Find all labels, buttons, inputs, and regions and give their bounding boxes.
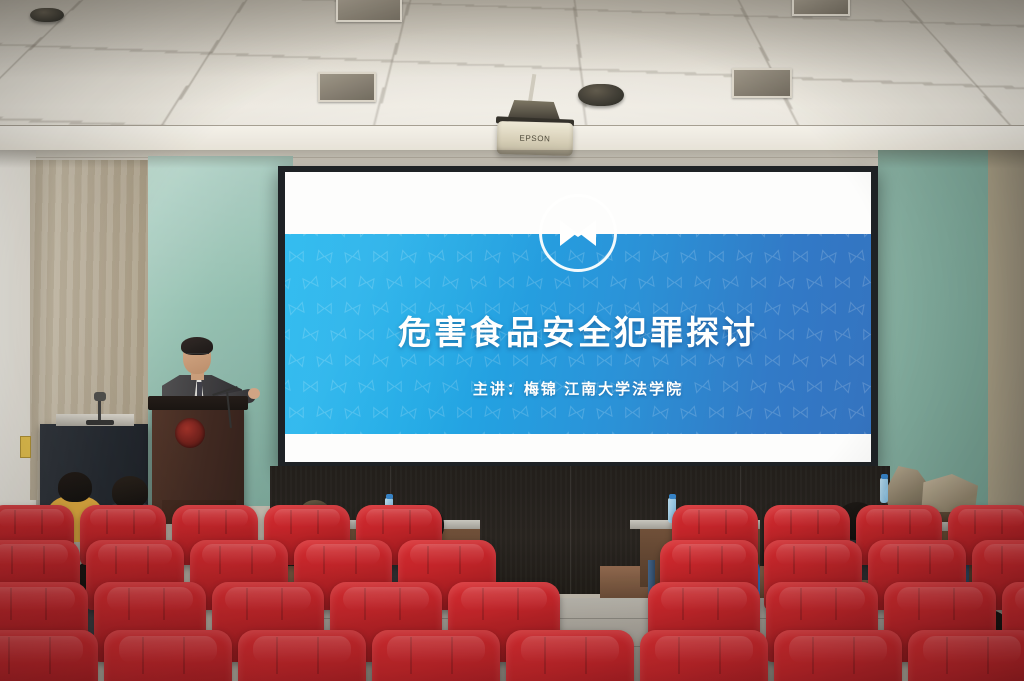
seat-crease — [225, 510, 227, 534]
watermark-tile — [285, 234, 291, 238]
watermark-tile — [400, 249, 417, 264]
watermark-tile — [862, 275, 871, 290]
seat-crease — [918, 588, 920, 620]
watermark-tile — [596, 405, 613, 420]
watermark-tile — [288, 353, 305, 368]
watermark-tile — [666, 234, 683, 238]
seat-crease — [544, 637, 546, 674]
seat-crease — [427, 546, 429, 574]
watermark-tile — [638, 275, 655, 290]
seat-crease — [128, 588, 130, 620]
seat-crease — [246, 588, 248, 620]
seat-crease — [853, 637, 855, 674]
watermark-tile — [400, 405, 417, 420]
watermark-tile — [652, 353, 669, 368]
wall-teal-right — [878, 150, 996, 510]
water-bottle — [880, 478, 888, 503]
seat-crease — [719, 637, 721, 674]
seat-crease — [800, 588, 802, 620]
seat-crease — [251, 546, 253, 574]
seat-crease — [909, 510, 911, 534]
watermark-tile — [652, 405, 669, 420]
watermark-tile — [316, 249, 333, 264]
watermark-tile — [568, 405, 585, 420]
watermark-tile — [597, 354, 612, 367]
watermark-tile — [316, 353, 333, 368]
seat-crease — [825, 546, 827, 574]
watermark-tile — [848, 405, 865, 420]
seat-crease — [147, 546, 149, 574]
watermark-tile — [484, 249, 501, 264]
backdrop-seam-2 — [570, 466, 571, 594]
seat-crease — [897, 546, 899, 574]
watermark-tile — [484, 405, 501, 420]
watermark-tile — [778, 275, 795, 290]
seat-crease — [183, 637, 185, 674]
seat-crease — [317, 637, 319, 674]
watermark-tile — [736, 353, 753, 368]
eyeglasses-icon — [186, 353, 209, 360]
watermark-tile — [499, 276, 514, 289]
watermark-tile — [484, 353, 501, 368]
watermark-tile — [764, 249, 781, 264]
seat-crease — [721, 546, 723, 574]
watermark-tile — [442, 234, 459, 238]
watermark-tile — [625, 250, 640, 263]
seat-crease — [11, 546, 13, 574]
watermark-tile — [639, 234, 654, 237]
watermark-tile — [386, 275, 403, 290]
watermark-tile — [372, 353, 389, 368]
seat-crease — [585, 637, 587, 674]
watermark-tile — [331, 276, 346, 289]
seat-crease — [290, 510, 292, 534]
watermark-tile — [415, 276, 430, 289]
watermark-tile — [583, 276, 598, 289]
watermark-tile — [834, 234, 851, 238]
watermark-tile — [848, 249, 865, 264]
theater-seat — [0, 630, 98, 681]
seat-crease — [835, 588, 837, 620]
seat-crease — [682, 588, 684, 620]
watermark-tile — [723, 234, 738, 237]
watermark-tile — [428, 405, 445, 420]
seat-crease — [812, 637, 814, 674]
watermark-tile — [358, 234, 375, 238]
theater-seat — [908, 630, 1024, 681]
seat-crease — [364, 588, 366, 620]
seat-crease — [817, 510, 819, 534]
watermark-tile — [303, 234, 318, 237]
slide-subtitle: 主讲：梅锦 江南大学法学院 — [285, 378, 871, 399]
watermark-tile — [708, 353, 725, 368]
watermark-tile — [373, 406, 388, 419]
seat-crease — [793, 546, 795, 574]
seat-crease — [8, 637, 10, 674]
bottle-cap — [386, 494, 393, 499]
watermark-tile — [750, 234, 767, 238]
ceiling-vent-2 — [732, 68, 792, 98]
seat-crease — [517, 588, 519, 620]
projection-screen-frame: 危害食品安全犯罪探讨 主讲：梅锦 江南大学法学院 — [278, 166, 878, 468]
seat-crease — [689, 546, 691, 574]
theater-seat — [238, 630, 366, 681]
speaker-hand — [248, 388, 260, 399]
watermark-tile — [765, 354, 780, 367]
watermark-tile — [428, 249, 445, 264]
microphone-base — [86, 420, 114, 425]
seat-crease — [142, 637, 144, 674]
theater-seat — [506, 630, 634, 681]
watermark-tile — [694, 275, 711, 290]
watermark-tile — [820, 405, 837, 420]
watermark-tile — [764, 405, 781, 420]
theater-seat — [372, 630, 500, 681]
seat-crease — [410, 637, 412, 674]
seat-crease — [323, 546, 325, 574]
watermark-tile — [835, 276, 850, 289]
slide-bottom-margin — [285, 434, 871, 462]
seat-crease — [1001, 510, 1003, 534]
ceiling-vent-4 — [792, 0, 850, 16]
seat-crease — [45, 588, 47, 620]
ceiling-vent-3 — [336, 0, 402, 22]
seat-crease — [725, 510, 727, 534]
seat-crease — [929, 546, 931, 574]
seat-crease — [451, 637, 453, 674]
seat-crease — [953, 588, 955, 620]
seat-crease — [717, 588, 719, 620]
watermark-tile — [457, 250, 472, 263]
watermark-tile — [624, 353, 641, 368]
lecture-hall-scene: EPSON 危害食品安全犯罪探讨 主讲：梅锦 江南大学法学院 — [0, 0, 1024, 681]
watermark-tile — [667, 276, 682, 289]
seat-crease — [106, 510, 108, 534]
watermark-tile — [344, 405, 361, 420]
watermark-tile — [541, 406, 556, 419]
seat-crease — [198, 510, 200, 534]
seat-crease — [133, 510, 135, 534]
watermark-tile — [820, 353, 837, 368]
watermark-tile — [512, 249, 529, 264]
watermark-tile — [568, 353, 585, 368]
seat-crease — [459, 546, 461, 574]
bottle-cap — [669, 494, 676, 499]
seat-crease — [678, 637, 680, 674]
seat-crease — [281, 588, 283, 620]
watermark-tile — [470, 275, 487, 290]
watermark-tile — [289, 406, 304, 419]
watermark-tile — [709, 406, 724, 419]
seat-crease — [1001, 546, 1003, 574]
podium-lectern-top — [148, 396, 248, 410]
watermark-tile — [289, 250, 304, 263]
theater-seat — [774, 630, 902, 681]
watermark-tile — [285, 275, 291, 290]
watermark-tile — [387, 234, 402, 237]
seat-crease — [482, 588, 484, 620]
watermark-tile — [709, 250, 724, 263]
watermark-tile — [778, 234, 795, 238]
watermark-tile — [358, 275, 375, 290]
watermark-tile — [681, 354, 696, 367]
watermark-tile — [849, 354, 864, 367]
slide-title: 危害食品安全犯罪探讨 — [285, 306, 871, 354]
watermark-tile — [540, 353, 557, 368]
theater-seat — [104, 630, 232, 681]
watermark-tile — [414, 234, 431, 238]
watermark-tile — [429, 354, 444, 367]
watermark-tile — [722, 275, 739, 290]
watermark-tile — [471, 234, 486, 237]
seat-crease — [317, 510, 319, 534]
theater-seat — [640, 630, 768, 681]
seat-crease — [49, 637, 51, 674]
seat-crease — [409, 510, 411, 534]
bowtie-m-logo — [539, 194, 617, 272]
watermark-tile — [610, 275, 627, 290]
seat-crease — [41, 510, 43, 534]
watermark-tile — [330, 234, 347, 238]
wall-switch-plate[interactable] — [20, 436, 31, 458]
seat-crease — [276, 637, 278, 674]
watermark-tile — [344, 249, 361, 264]
watermark-tile — [526, 275, 543, 290]
seat-crease — [382, 510, 384, 534]
watermark-tile — [302, 275, 319, 290]
watermark-tile — [513, 354, 528, 367]
seat-crease — [14, 510, 16, 534]
seat-crease — [163, 588, 165, 620]
seat-crease — [219, 546, 221, 574]
person-head — [58, 472, 92, 502]
watermark-tile — [512, 405, 529, 420]
projection-screen: 危害食品安全犯罪探讨 主讲：梅锦 江南大学法学院 — [285, 172, 871, 462]
watermark-tile — [316, 405, 333, 420]
microphone-icon — [94, 392, 106, 401]
watermark-tile — [806, 275, 823, 290]
watermark-tile — [625, 406, 640, 419]
watermark-tile — [554, 275, 571, 290]
watermark-tile — [457, 406, 472, 419]
seat-crease — [399, 588, 401, 620]
watermark-tile — [793, 406, 808, 419]
seat-crease — [987, 637, 989, 674]
seat-crease — [10, 588, 12, 620]
seat-crease — [790, 510, 792, 534]
watermark-tile — [793, 250, 808, 263]
watermark-tile — [400, 353, 417, 368]
watermark-tile — [694, 234, 711, 238]
university-crest-icon — [175, 418, 205, 448]
watermark-tile — [442, 275, 459, 290]
seat-crease — [698, 510, 700, 534]
seat-crease — [43, 546, 45, 574]
ceiling-vent-1 — [318, 72, 376, 102]
person-head — [112, 476, 148, 508]
watermark-tile — [456, 353, 473, 368]
watermark-tile — [680, 249, 697, 264]
watermark-tile — [652, 249, 669, 264]
watermark-tile — [345, 354, 360, 367]
watermark-tile — [680, 405, 697, 420]
seat-crease — [355, 546, 357, 574]
watermark-tile — [373, 250, 388, 263]
watermark-tile — [736, 249, 753, 264]
seat-crease — [946, 637, 948, 674]
watermark-tile — [792, 353, 809, 368]
seat-crease — [115, 546, 117, 574]
watermark-tile — [498, 234, 515, 238]
seat-crease — [974, 510, 976, 534]
watermark-tile — [751, 276, 766, 289]
watermark-tile — [807, 234, 822, 237]
watermark-tile — [820, 249, 837, 264]
ceiling-speaker-icon — [30, 8, 64, 22]
seat-crease — [882, 510, 884, 534]
watermark-tile — [862, 234, 871, 238]
wall-right-wood-edge — [988, 150, 1024, 510]
watermark-tile — [736, 405, 753, 420]
bottle-cap — [881, 474, 888, 479]
